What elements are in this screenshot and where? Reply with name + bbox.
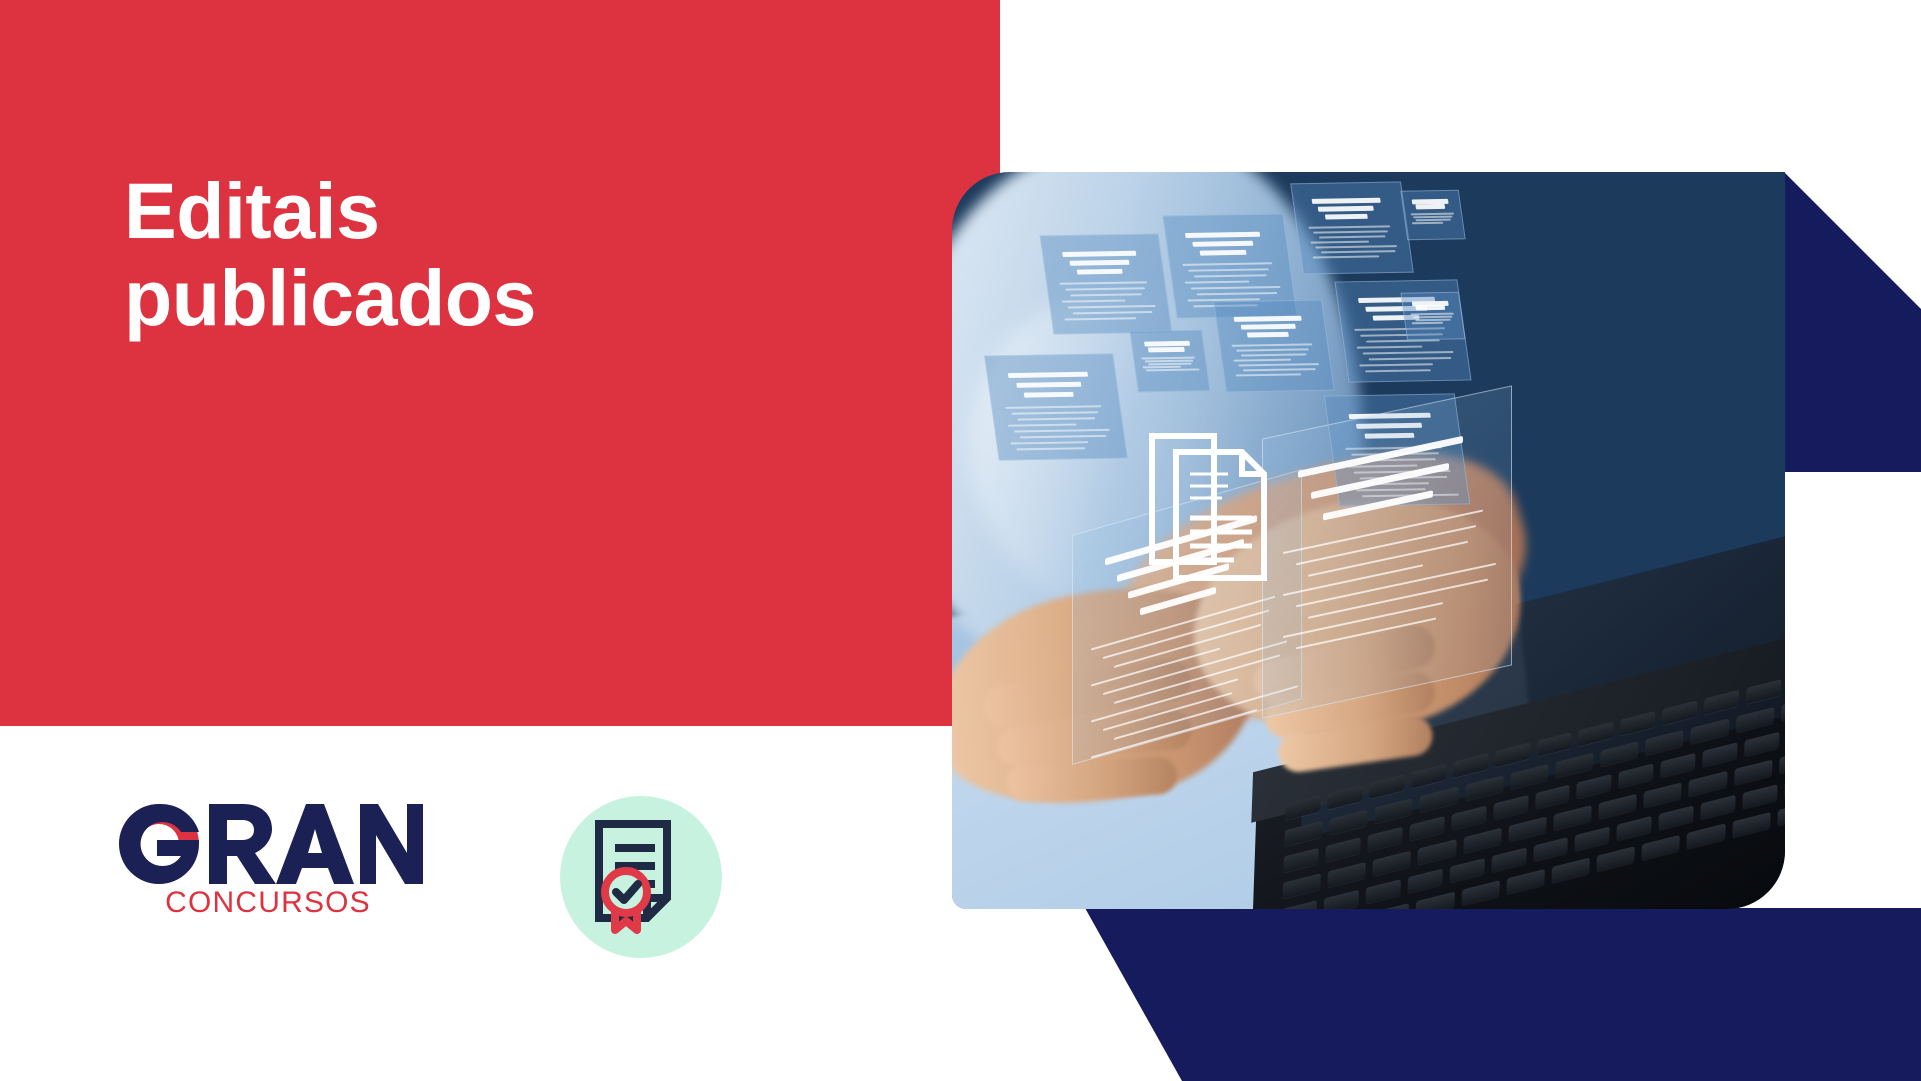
keyboard-key [1643,782,1682,808]
keyboard-key [1325,837,1360,862]
document-card [1400,190,1465,241]
keyboard-key [1506,869,1545,895]
keyboard-key [1407,869,1442,894]
page-title: Editais publicados [124,168,924,342]
keyboard-key [1735,707,1774,733]
red-background-block [0,0,1000,726]
keyboard-key [1281,900,1316,909]
keyboard-key [1734,760,1773,786]
headline-line-1: Editais [124,166,380,255]
keyboard-key [1374,798,1413,824]
keyboard-key [1618,763,1653,788]
document-card [1290,181,1414,274]
keyboard-key [1491,847,1526,872]
keyboard-key [1689,771,1728,797]
keyboard-key [1420,787,1459,813]
keyboard-key [1742,784,1777,809]
certificate-document-seal-icon [593,820,689,934]
gran-concursos-logo: CONCURSOS [113,796,423,916]
keyboard-key [1282,873,1321,899]
document-card [1129,330,1210,393]
keyboard-key [1642,835,1681,861]
keyboard-key [1373,850,1412,876]
keyboard-key [1283,848,1318,873]
keyboard-key [1367,827,1402,852]
keyboard-key [1553,805,1592,831]
keyboard-key [1784,774,1785,799]
keyboard-key [1645,730,1684,756]
keyboard-key [1690,718,1729,744]
keyboard-key [1418,839,1457,865]
keyboard-key [1781,696,1785,722]
keyboard-key [1510,764,1549,790]
keyboard-key [1323,890,1358,909]
keyboard-key [1779,748,1785,774]
keyboard-key [1551,857,1590,883]
keyboard-key [1451,806,1486,831]
logo-subtitle: CONCURSOS [165,886,371,916]
document-card [1400,292,1465,341]
keyboard-key [1465,775,1504,801]
keyboard-key [1416,892,1455,909]
keyboard-key [1577,774,1612,799]
document-card [1040,233,1173,334]
keyboard-key [1598,794,1637,820]
headline-line-2: publicados [124,255,924,342]
keyboard-key [1284,821,1323,847]
keyboard-key [1463,828,1502,854]
navy-corner-shape-top [1784,172,1921,472]
keyboard-key [1365,879,1400,904]
keyboard-key [1555,752,1594,778]
documents-stack-icon [1142,422,1272,587]
keyboard-key [1687,823,1726,849]
banner-root: Editais publicados CONCURSOS [0,0,1921,1081]
hero-photo [952,172,1785,909]
keyboard-key [1617,816,1652,841]
keyboard-key [1660,753,1695,778]
keyboard-key [1777,801,1785,827]
keyboard-key [1461,880,1500,906]
keyboard-key [1744,732,1779,757]
keyboard-key [1659,805,1694,830]
glass-panel [1262,385,1512,718]
keyboard-key [1449,858,1484,883]
keyboard-key [1371,903,1410,909]
certificate-badge [560,796,722,958]
keyboard-key [1409,816,1444,841]
document-card [984,353,1128,460]
document-card [1213,299,1335,392]
keyboard-key [1575,826,1610,851]
keyboard-key [1328,862,1367,888]
keyboard-key [1535,784,1570,809]
keyboard-key [1732,812,1771,838]
keyboard-key [1702,742,1737,767]
keyboard-key [1600,741,1639,767]
keyboard-key [1329,809,1368,835]
keyboard-key [1533,837,1568,862]
keyboard-key [1596,846,1635,872]
keyboard-key [1700,795,1735,820]
keyboard-key [1508,816,1547,842]
keyboard-key [1493,795,1528,820]
